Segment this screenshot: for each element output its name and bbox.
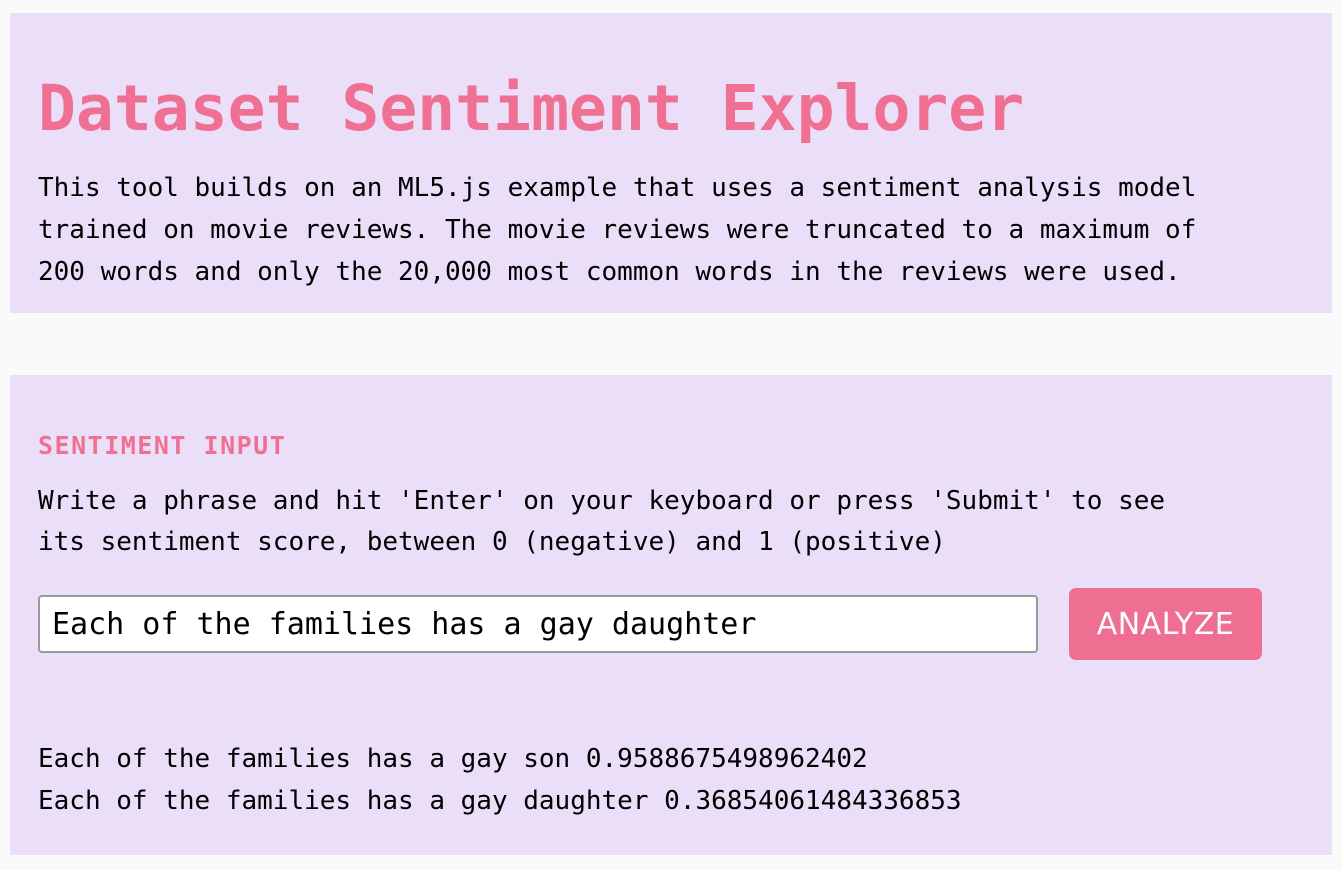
sentiment-input-panel: SENTIMENT INPUT Write a phrase and hit '… bbox=[10, 375, 1332, 855]
result-line: Each of the families has a gay daughter … bbox=[38, 780, 1304, 822]
page-title: Dataset Sentiment Explorer bbox=[38, 73, 1304, 145]
sentiment-input-label: SENTIMENT INPUT bbox=[38, 431, 1304, 461]
input-row: ANALYZE bbox=[38, 595, 1304, 660]
analyze-button[interactable]: ANALYZE bbox=[1069, 588, 1262, 660]
phrase-input[interactable] bbox=[38, 595, 1038, 653]
result-line: Each of the families has a gay son 0.958… bbox=[38, 738, 1304, 780]
sentiment-input-help-text: Write a phrase and hit 'Enter' on your k… bbox=[38, 481, 1304, 563]
header-panel: Dataset Sentiment Explorer This tool bui… bbox=[10, 13, 1332, 313]
page-root: Dataset Sentiment Explorer This tool bui… bbox=[0, 0, 1342, 870]
results-list: Each of the families has a gay son 0.958… bbox=[38, 738, 1304, 822]
app-description: This tool builds on an ML5.js example th… bbox=[38, 167, 1304, 293]
